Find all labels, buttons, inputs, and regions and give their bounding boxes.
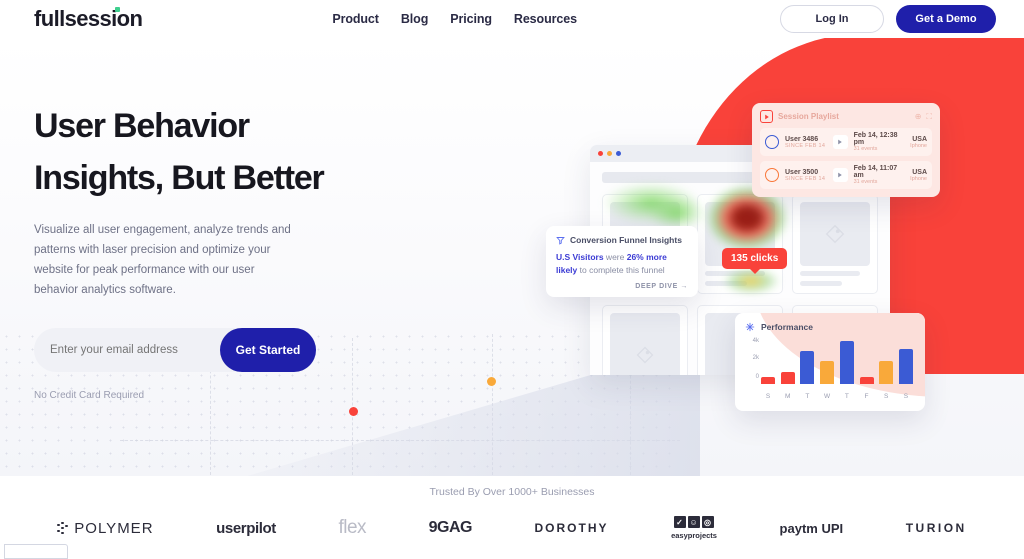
performance-card-header: Performance <box>745 322 915 332</box>
client-logo-row: POLYMER userpilot flex 9GAG DOROTHY ✓ ☺ … <box>0 516 1024 540</box>
playlist-events: 31 events <box>854 179 905 185</box>
page-title-line-2: Insights, But Better <box>34 152 454 204</box>
session-playlist-card: Session Playlist ⊕ ⛶ User 3486 SINCE FEB… <box>752 103 940 197</box>
nav-item-resources[interactable]: Resources <box>514 12 577 26</box>
playlist-user-name: User 3500 <box>785 169 827 176</box>
playlist-play-icon <box>760 110 773 123</box>
x-tick-6: S <box>879 393 893 400</box>
nav-item-blog[interactable]: Blog <box>401 12 428 26</box>
x-tick-0: S <box>761 393 775 400</box>
tile-image <box>610 313 680 375</box>
y-tick-2k: 2k <box>753 355 759 361</box>
funnel-highlight-percent: 26% more <box>627 252 667 262</box>
brand-logo-dot-icon <box>115 7 120 12</box>
playlist-timestamp: Feb 14, 11:07 am <box>854 165 905 179</box>
client-logo-9gag: 9GAG <box>429 519 472 537</box>
content-tile <box>792 194 878 294</box>
person-icon: ☺ <box>688 516 700 528</box>
no-credit-card-note: No Credit Card Required <box>34 390 454 401</box>
client-logo-paytm-upi: paytm UPI <box>780 521 844 536</box>
brand-logo[interactable]: fullsession <box>34 6 142 32</box>
playlist-user: User 3486 SINCE FEB 14 <box>785 136 827 149</box>
client-logo-turion: TURION <box>906 521 967 535</box>
hero-content: User Behavior Insights, But Better Visua… <box>34 100 454 401</box>
tile-text-line <box>800 281 842 286</box>
polymer-dots-icon <box>57 522 70 535</box>
sad-face-icon <box>765 168 779 182</box>
playlist-card-header: Session Playlist ⊕ ⛶ <box>760 110 932 123</box>
playlist-row[interactable]: User 3486 SINCE FEB 14 Feb 14, 12:38 pm … <box>760 128 932 156</box>
playlist-user: User 3500 SINCE FEB 14 <box>785 169 827 182</box>
chart-bar-S-7 <box>899 349 913 384</box>
playlist-when: Feb 14, 12:38 pm 31 events <box>854 132 905 152</box>
scatter-dot-orange <box>487 377 496 386</box>
performance-icon <box>745 322 755 332</box>
bar <box>781 372 795 384</box>
client-logo-easyprojects-text: easyprojects <box>671 531 717 540</box>
happy-face-icon <box>765 135 779 149</box>
content-tile <box>602 305 688 375</box>
client-logo-polymer-text: POLYMER <box>74 520 153 537</box>
funnel-card-title: Conversion Funnel Insights <box>570 235 682 245</box>
play-session-button[interactable] <box>833 135 848 149</box>
x-tick-7: S <box>899 393 913 400</box>
playlist-timestamp: Feb 14, 12:38 pm <box>854 132 905 146</box>
window-close-dot-icon <box>598 151 603 156</box>
chart-y-axis: 4k 2k 0 <box>745 338 759 384</box>
playlist-user-since: SINCE FEB 14 <box>785 143 827 149</box>
bar <box>899 349 913 384</box>
tag-icon <box>824 223 846 245</box>
playlist-row[interactable]: User 3500 SINCE FEB 14 Feb 14, 11:07 am … <box>760 161 932 189</box>
playlist-user-name: User 3486 <box>785 136 827 143</box>
easyprojects-boxes-icon: ✓ ☺ ◎ <box>674 516 714 528</box>
arrow-right-icon: → <box>680 283 688 290</box>
client-logo-userpilot: userpilot <box>216 520 276 537</box>
bar <box>879 361 893 384</box>
play-triangle-icon <box>764 114 770 120</box>
bar <box>820 361 834 384</box>
playlist-card-actions: ⊕ ⛶ <box>915 112 932 122</box>
y-tick-4k: 4k <box>753 338 759 344</box>
funnel-card-header: Conversion Funnel Insights <box>556 235 688 245</box>
content-tile <box>697 194 783 294</box>
funnel-highlight-likely: likely <box>556 265 577 275</box>
nav-item-product[interactable]: Product <box>332 12 379 26</box>
deep-dive-link[interactable]: DEEP DIVE → <box>556 283 688 290</box>
client-logo-easyprojects: ✓ ☺ ◎ easyprojects <box>671 516 717 540</box>
y-tick-0: 0 <box>756 374 759 380</box>
performance-card-title: Performance <box>761 322 813 332</box>
chart-bars <box>759 338 915 384</box>
target-icon: ◎ <box>702 516 714 528</box>
x-tick-2: T <box>800 393 814 400</box>
scatter-dot-red <box>349 407 358 416</box>
chart-bar-T-2 <box>800 351 814 384</box>
email-signup-form: Get Started <box>34 328 316 372</box>
client-logo-dorothy: DOROTHY <box>535 521 609 535</box>
playlist-device: Iphone <box>910 176 927 182</box>
playlist-country: USA <box>910 136 927 143</box>
x-tick-1: M <box>781 393 795 400</box>
bar <box>860 377 874 384</box>
expand-icon[interactable]: ⛶ <box>926 112 932 122</box>
landing-page: fullsession Product Blog Pricing Resourc… <box>0 0 1024 559</box>
playlist-device: Iphone <box>910 143 927 149</box>
login-button[interactable]: Log In <box>780 5 884 33</box>
playlist-when: Feb 14, 11:07 am 31 events <box>854 165 905 185</box>
get-started-button[interactable]: Get Started <box>220 328 316 372</box>
tile-text-line <box>705 281 747 286</box>
chart-bar-T-4 <box>840 341 854 384</box>
chart-bar-M-1 <box>781 372 795 384</box>
info-icon[interactable]: ⊕ <box>915 112 922 122</box>
performance-chart-card: Performance 4k 2k 0 SMTWTFSS <box>735 313 925 411</box>
brand-logo-text: fullsession <box>34 6 142 31</box>
client-logo-flex: flex <box>338 517 366 539</box>
bar <box>761 377 775 384</box>
playlist-card-title: Session Playlist <box>778 112 839 121</box>
checkbox-icon: ✓ <box>674 516 686 528</box>
playlist-events: 31 events <box>854 146 905 152</box>
page-title-line-1: User Behavior <box>34 100 454 152</box>
tile-text-line <box>800 271 860 276</box>
playlist-user-since: SINCE FEB 14 <box>785 176 827 182</box>
header-actions: Log In Get a Demo <box>780 5 996 33</box>
nav-item-pricing[interactable]: Pricing <box>450 12 492 26</box>
site-header: fullsession Product Blog Pricing Resourc… <box>0 0 1024 38</box>
bar <box>840 341 854 384</box>
client-logo-polymer: POLYMER <box>57 520 153 537</box>
playlist-geo: USA Iphone <box>910 169 927 182</box>
clicks-badge: 135 clicks <box>722 248 787 269</box>
chart-bar-F-5 <box>860 377 874 384</box>
get-a-demo-button[interactable]: Get a Demo <box>896 5 996 33</box>
conversion-funnel-card: Conversion Funnel Insights U.S Visitors … <box>546 226 698 297</box>
x-tick-4: T <box>840 393 854 400</box>
trusted-section: Trusted By Over 1000+ Businesses POLYMER… <box>0 476 1024 559</box>
chart-x-labels: SMTWTFSS <box>759 393 915 400</box>
play-session-button[interactable] <box>833 168 848 182</box>
email-field[interactable] <box>50 344 210 356</box>
window-minimize-dot-icon <box>607 151 612 156</box>
bar <box>800 351 814 384</box>
chart-bar-W-3 <box>820 361 834 384</box>
primary-nav: Product Blog Pricing Resources <box>332 12 577 26</box>
playlist-geo: USA Iphone <box>910 136 927 149</box>
chart-bar-S-0 <box>761 377 775 384</box>
hero-subtitle: Visualize all user engagement, analyze t… <box>34 220 294 300</box>
funnel-icon <box>556 236 565 245</box>
x-tick-3: W <box>820 393 834 400</box>
corner-widget[interactable] <box>4 544 68 559</box>
playlist-country: USA <box>910 169 927 176</box>
play-triangle-icon <box>837 172 843 178</box>
funnel-text-3: to complete this funnel <box>577 265 664 275</box>
funnel-highlight-visitors: U.S Visitors <box>556 252 604 262</box>
chart-bar-S-6 <box>879 361 893 384</box>
tile-image <box>800 202 870 266</box>
x-tick-5: F <box>860 393 874 400</box>
tag-icon <box>635 345 655 365</box>
deep-dive-label: DEEP DIVE <box>635 283 678 290</box>
play-triangle-icon <box>837 139 843 145</box>
performance-bar-chart: 4k 2k 0 SMTWTFSS <box>745 338 915 400</box>
trusted-title: Trusted By Over 1000+ Businesses <box>0 486 1024 498</box>
window-maximize-dot-icon <box>616 151 621 156</box>
funnel-card-body: U.S Visitors were 26% more likely to com… <box>556 251 688 277</box>
funnel-text-1: were <box>604 252 627 262</box>
